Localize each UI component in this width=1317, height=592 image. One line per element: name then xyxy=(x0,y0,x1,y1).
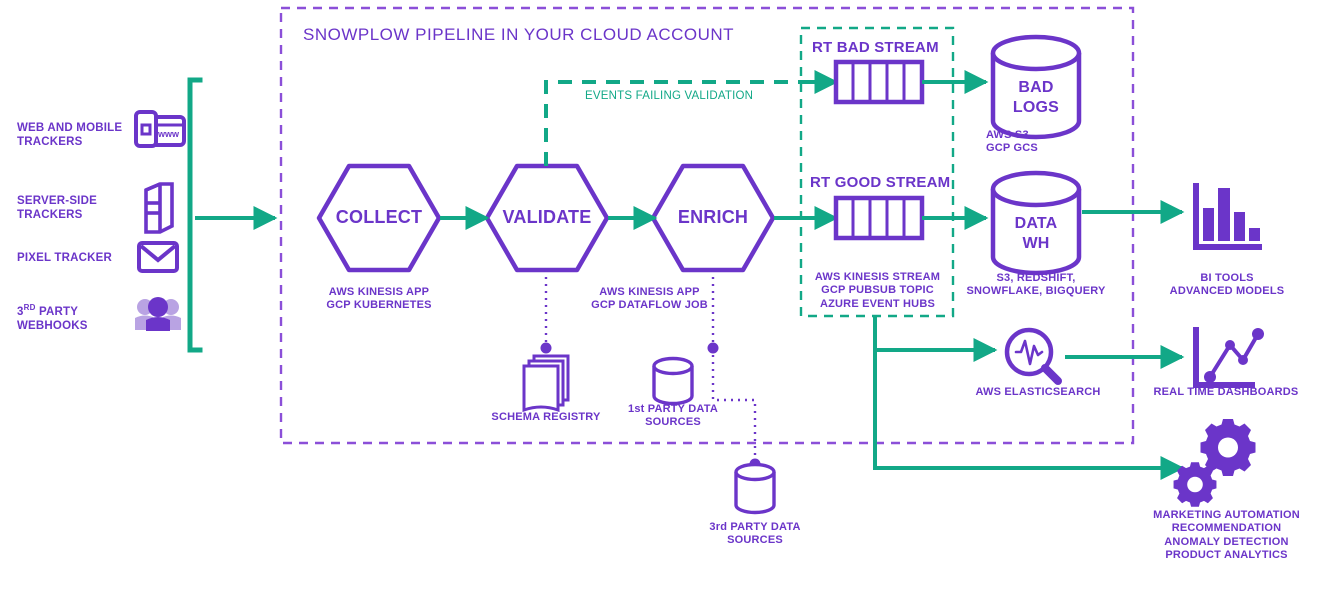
gears-icon xyxy=(1174,419,1256,507)
applications-label: MARKETING AUTOMATION RECOMMENDATION ANOM… xyxy=(1139,509,1314,563)
bad-logs-label-line2: LOGS xyxy=(996,98,1076,118)
good-stream-queue-icon xyxy=(836,198,922,238)
realtime-dashboards-label: REAL TIME DASHBOARDS xyxy=(1143,386,1309,399)
bad-stream-queue-icon xyxy=(836,62,922,102)
data-wh-label-line1: DATA xyxy=(996,214,1076,234)
stage-sublabel-validate: AWS KINESIS APP GCP DATAFLOW JOB xyxy=(577,286,722,313)
third-party-cylinder-icon xyxy=(736,465,774,513)
third-party-label: 3rd PARTY DATA SOURCES xyxy=(697,521,813,548)
rt-bad-stream-title: RT BAD STREAM xyxy=(812,39,939,57)
events-failing-validation-label: EVENTS FAILING VALIDATION xyxy=(585,89,753,103)
snowplow-architecture-diagram: www SNOWPLOW PIPELINE IN YOUR CLOUD ACCO… xyxy=(0,0,1317,592)
sources-bracket xyxy=(190,80,200,350)
envelope-icon xyxy=(139,243,177,271)
bar-chart-icon xyxy=(1196,186,1260,247)
rt-good-stream-sublabel: AWS KINESIS STREAM GCP PUBSUB TOPIC AZUR… xyxy=(805,271,950,311)
documents-stack-icon xyxy=(524,356,568,410)
stage-label-validate: VALIDATE xyxy=(497,207,597,229)
bi-tools-label: BI TOOLS ADVANCED MODELS xyxy=(1152,272,1302,299)
people-icon xyxy=(135,297,181,331)
data-wh-label-line2: WH xyxy=(996,234,1076,254)
mobile-browser-icon: www xyxy=(136,112,184,146)
server-icon xyxy=(146,184,172,232)
bad-logs-label-line1: BAD xyxy=(996,78,1076,98)
magnifier-waveform-icon xyxy=(1007,330,1058,381)
first-party-cylinder-icon xyxy=(654,359,692,404)
source-label-pixel-tracker: PIXEL TRACKER xyxy=(17,251,112,265)
schema-registry-label: SCHEMA REGISTRY xyxy=(481,411,611,424)
elasticsearch-label: AWS ELASTICSEARCH xyxy=(963,386,1113,399)
source-label-server-side: SERVER-SIDE TRACKERS xyxy=(17,194,97,222)
svg-text:www: www xyxy=(157,129,180,139)
line-chart-icon xyxy=(1196,328,1264,385)
source-label-web-mobile: WEB AND MOBILE TRACKERS xyxy=(17,121,122,149)
stage-sublabel-collect: AWS KINESIS APP GCP KUBERNETES xyxy=(309,286,449,313)
stage-label-collect: COLLECT xyxy=(329,207,429,229)
source-label-third-party-webhooks: 3RD PARTYWEBHOOKS xyxy=(17,303,88,333)
bad-logs-sublabel: AWS S3 GCP GCS xyxy=(986,129,1086,156)
data-wh-sublabel: S3, REDSHIFT, SNOWFLAKE, BIGQUERY xyxy=(961,272,1111,299)
first-party-label: 1st PARTY DATA SOURCES xyxy=(615,403,731,430)
rt-good-stream-title: RT GOOD STREAM xyxy=(810,174,950,192)
page-title: SNOWPLOW PIPELINE IN YOUR CLOUD ACCOUNT xyxy=(303,25,734,46)
stage-label-enrich: ENRICH xyxy=(663,207,763,229)
